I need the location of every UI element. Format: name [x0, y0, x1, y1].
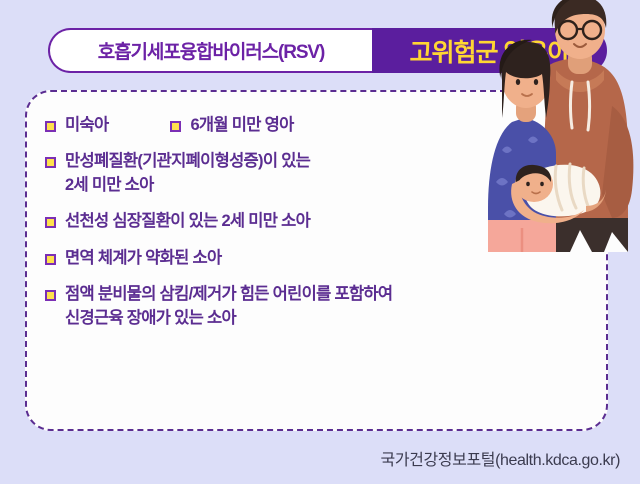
- bullet-square-icon: [170, 121, 181, 132]
- bullet-square-icon: [45, 121, 56, 132]
- list-item-label-line2: 2세 미만 소아: [65, 174, 310, 197]
- list-item-under-6-months-infant: 6개월 미만 영아: [170, 114, 293, 137]
- list-item-congenital-heart-disease: 선천성 심장질환이 있는 2세 미만 소아: [45, 210, 485, 233]
- list-item-label-line2: 신경근육 장애가 있는 소아: [65, 307, 392, 330]
- bullet-square-icon: [45, 217, 56, 228]
- list-item-chronic-lung-disease: 만성폐질환(기관지폐이형성증)이 있는 2세 미만 소아: [45, 150, 485, 197]
- list-item-label: 6개월 미만 영아: [190, 114, 293, 137]
- bullet-row: 미숙아 6개월 미만 영아: [45, 114, 485, 137]
- list-item-weakened-immune-system: 면역 체계가 약화된 소아: [45, 247, 485, 270]
- bullet-square-icon: [45, 290, 56, 301]
- list-item-label: 점액 분비물의 삼킴/제거가 힘든 어린이를 포함하여: [65, 285, 392, 303]
- list-item-neuromuscular-disorder: 점액 분비물의 삼킴/제거가 힘든 어린이를 포함하여 신경근육 장애가 있는 …: [45, 283, 485, 330]
- footer-source-text: 국가건강정보포털(health.kdca.go.kr): [0, 446, 620, 470]
- list-item-label: 만성폐질환(기관지폐이형성증)이 있는: [65, 152, 310, 170]
- bullet-square-icon: [45, 157, 56, 168]
- list-item-label: 선천성 심장질환이 있는 2세 미만 소아: [65, 210, 310, 233]
- bullet-list: 미숙아 6개월 미만 영아 만성폐질환(기관지폐이형성증)이 있는 2세 미만 …: [45, 114, 485, 343]
- family-with-newborn-illustration: [452, 0, 640, 252]
- list-item-label-wrapper: 만성폐질환(기관지폐이형성증)이 있는 2세 미만 소아: [65, 150, 310, 197]
- list-item-label-wrapper: 점액 분비물의 삼킴/제거가 힘든 어린이를 포함하여 신경근육 장애가 있는 …: [65, 283, 392, 330]
- header-title-text: 호흡기세포융합바이러스(RSV): [98, 37, 324, 64]
- list-item-label: 면역 체계가 약화된 소아: [65, 247, 221, 270]
- header-title-pill: 호흡기세포융합바이러스(RSV): [48, 28, 372, 73]
- bullet-square-icon: [45, 254, 56, 265]
- list-item-label: 미숙아: [65, 114, 108, 137]
- list-item-premature-infant: 미숙아: [45, 114, 108, 137]
